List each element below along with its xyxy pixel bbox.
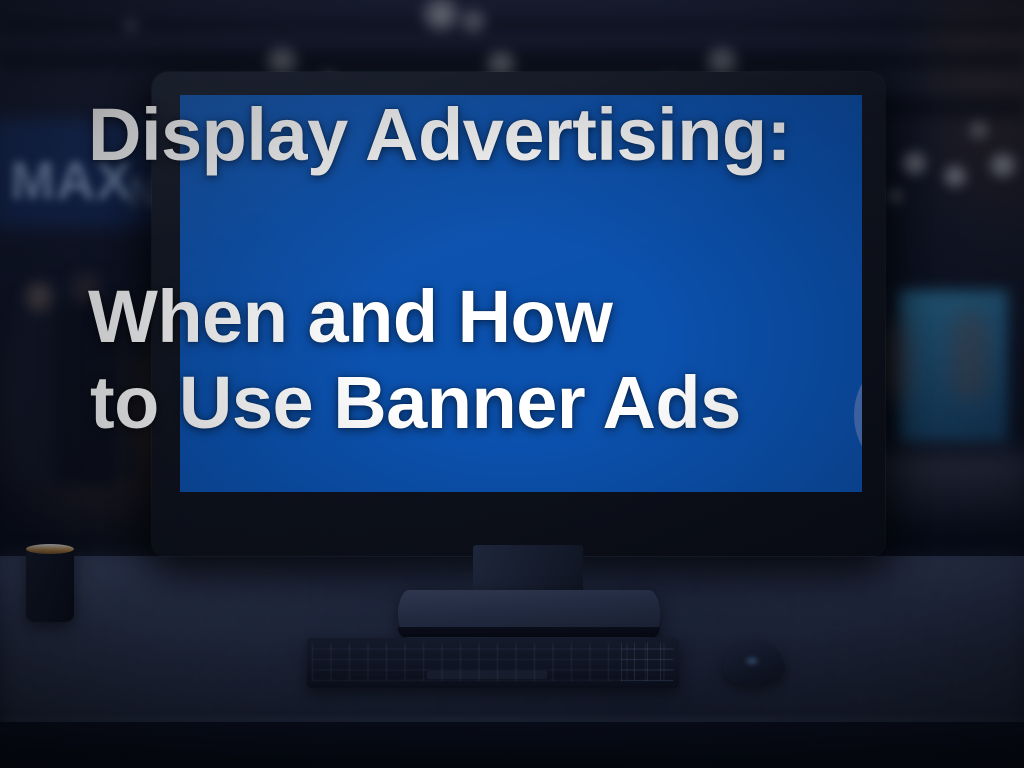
scene-canvas: MAX N <box>0 0 1024 768</box>
keyboard <box>307 638 679 688</box>
background-signage-text: MAX <box>10 150 133 212</box>
coffee-cup-rim <box>26 544 74 554</box>
keyboard-numpad <box>621 643 673 681</box>
bokeh-light <box>940 162 970 190</box>
ceiling-truss-beam <box>0 20 1024 30</box>
desk-edge <box>0 722 1024 768</box>
bokeh-light <box>966 118 992 142</box>
keyboard-spacebar <box>427 671 547 679</box>
bokeh-light <box>898 148 930 178</box>
mouse-led-glow <box>744 656 760 666</box>
monitor-stand-base-edge <box>398 627 660 637</box>
background-person <box>950 310 990 400</box>
background-person <box>96 300 140 480</box>
coffee-cup <box>26 546 74 622</box>
bokeh-light <box>456 6 490 36</box>
bokeh-light <box>118 14 144 36</box>
bokeh-light <box>986 150 1020 180</box>
screen-sheen <box>180 95 862 492</box>
monitor-screen <box>180 95 862 492</box>
